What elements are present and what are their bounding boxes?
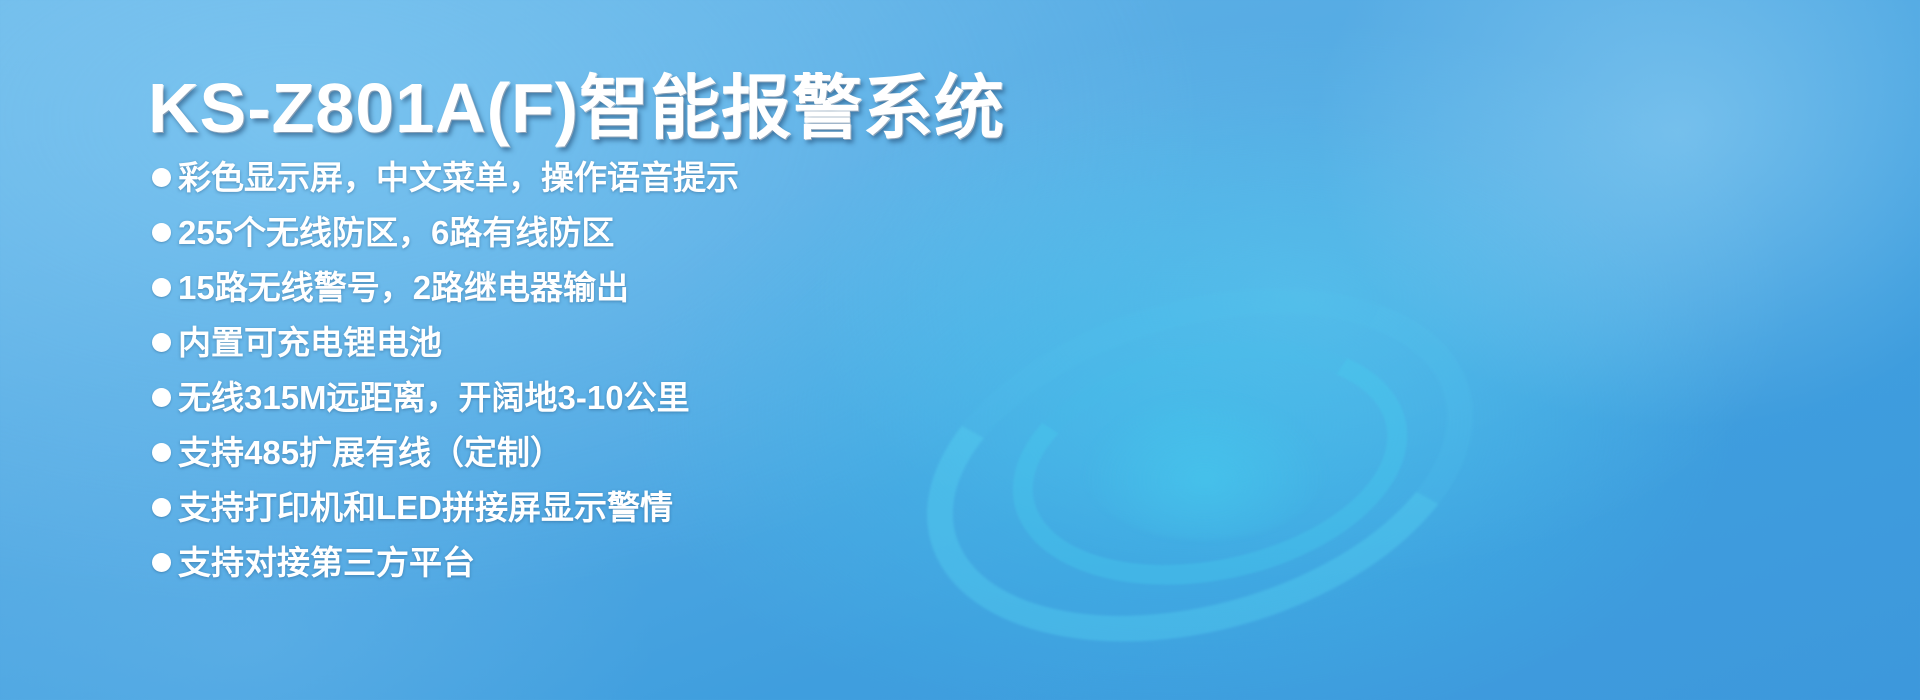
text-content: KS-Z801A(F)智能报警系统 彩色显示屏，中文菜单，操作语音提示 255个… (0, 0, 960, 700)
feature-label: 支持485扩展有线（定制） (178, 430, 563, 475)
bullet-icon (152, 553, 171, 572)
list-item: 支持打印机和LED拼接屏显示警情 (152, 485, 952, 530)
bullet-icon (152, 333, 171, 352)
bullet-icon (152, 498, 171, 517)
bullet-icon (152, 168, 171, 187)
list-item: 无线315M远距离，开阔地3-10公里 (152, 375, 952, 420)
feature-label: 内置可充电锂电池 (178, 320, 442, 365)
list-item: 15路无线警号，2路继电器输出 (152, 265, 952, 310)
bullet-icon (152, 388, 171, 407)
list-item: 彩色显示屏，中文菜单，操作语音提示 (152, 155, 952, 200)
feature-label: 255个无线防区，6路有线防区 (178, 210, 614, 255)
alarm-panel-product-image: ▼ 22 27 04-01-01 星期四 交电 备电 故障 平电 (965, 0, 1920, 700)
bullet-icon (152, 443, 171, 462)
list-item: 内置可充电锂电池 (152, 320, 952, 365)
feature-label: 支持打印机和LED拼接屏显示警情 (178, 485, 673, 530)
list-item: 支持对接第三方平台 (152, 540, 952, 585)
feature-label: 彩色显示屏，中文菜单，操作语音提示 (178, 155, 739, 200)
feature-list: 彩色显示屏，中文菜单，操作语音提示 255个无线防区，6路有线防区 15路无线警… (152, 155, 952, 595)
bullet-icon (152, 278, 171, 297)
feature-label: 支持对接第三方平台 (178, 540, 475, 585)
list-item: 支持485扩展有线（定制） (152, 430, 952, 475)
bullet-icon (152, 223, 171, 242)
feature-label: 15路无线警号，2路继电器输出 (178, 265, 629, 310)
list-item: 255个无线防区，6路有线防区 (152, 210, 952, 255)
feature-label: 无线315M远距离，开阔地3-10公里 (178, 375, 690, 420)
page-title: KS-Z801A(F)智能报警系统 (148, 52, 1005, 153)
